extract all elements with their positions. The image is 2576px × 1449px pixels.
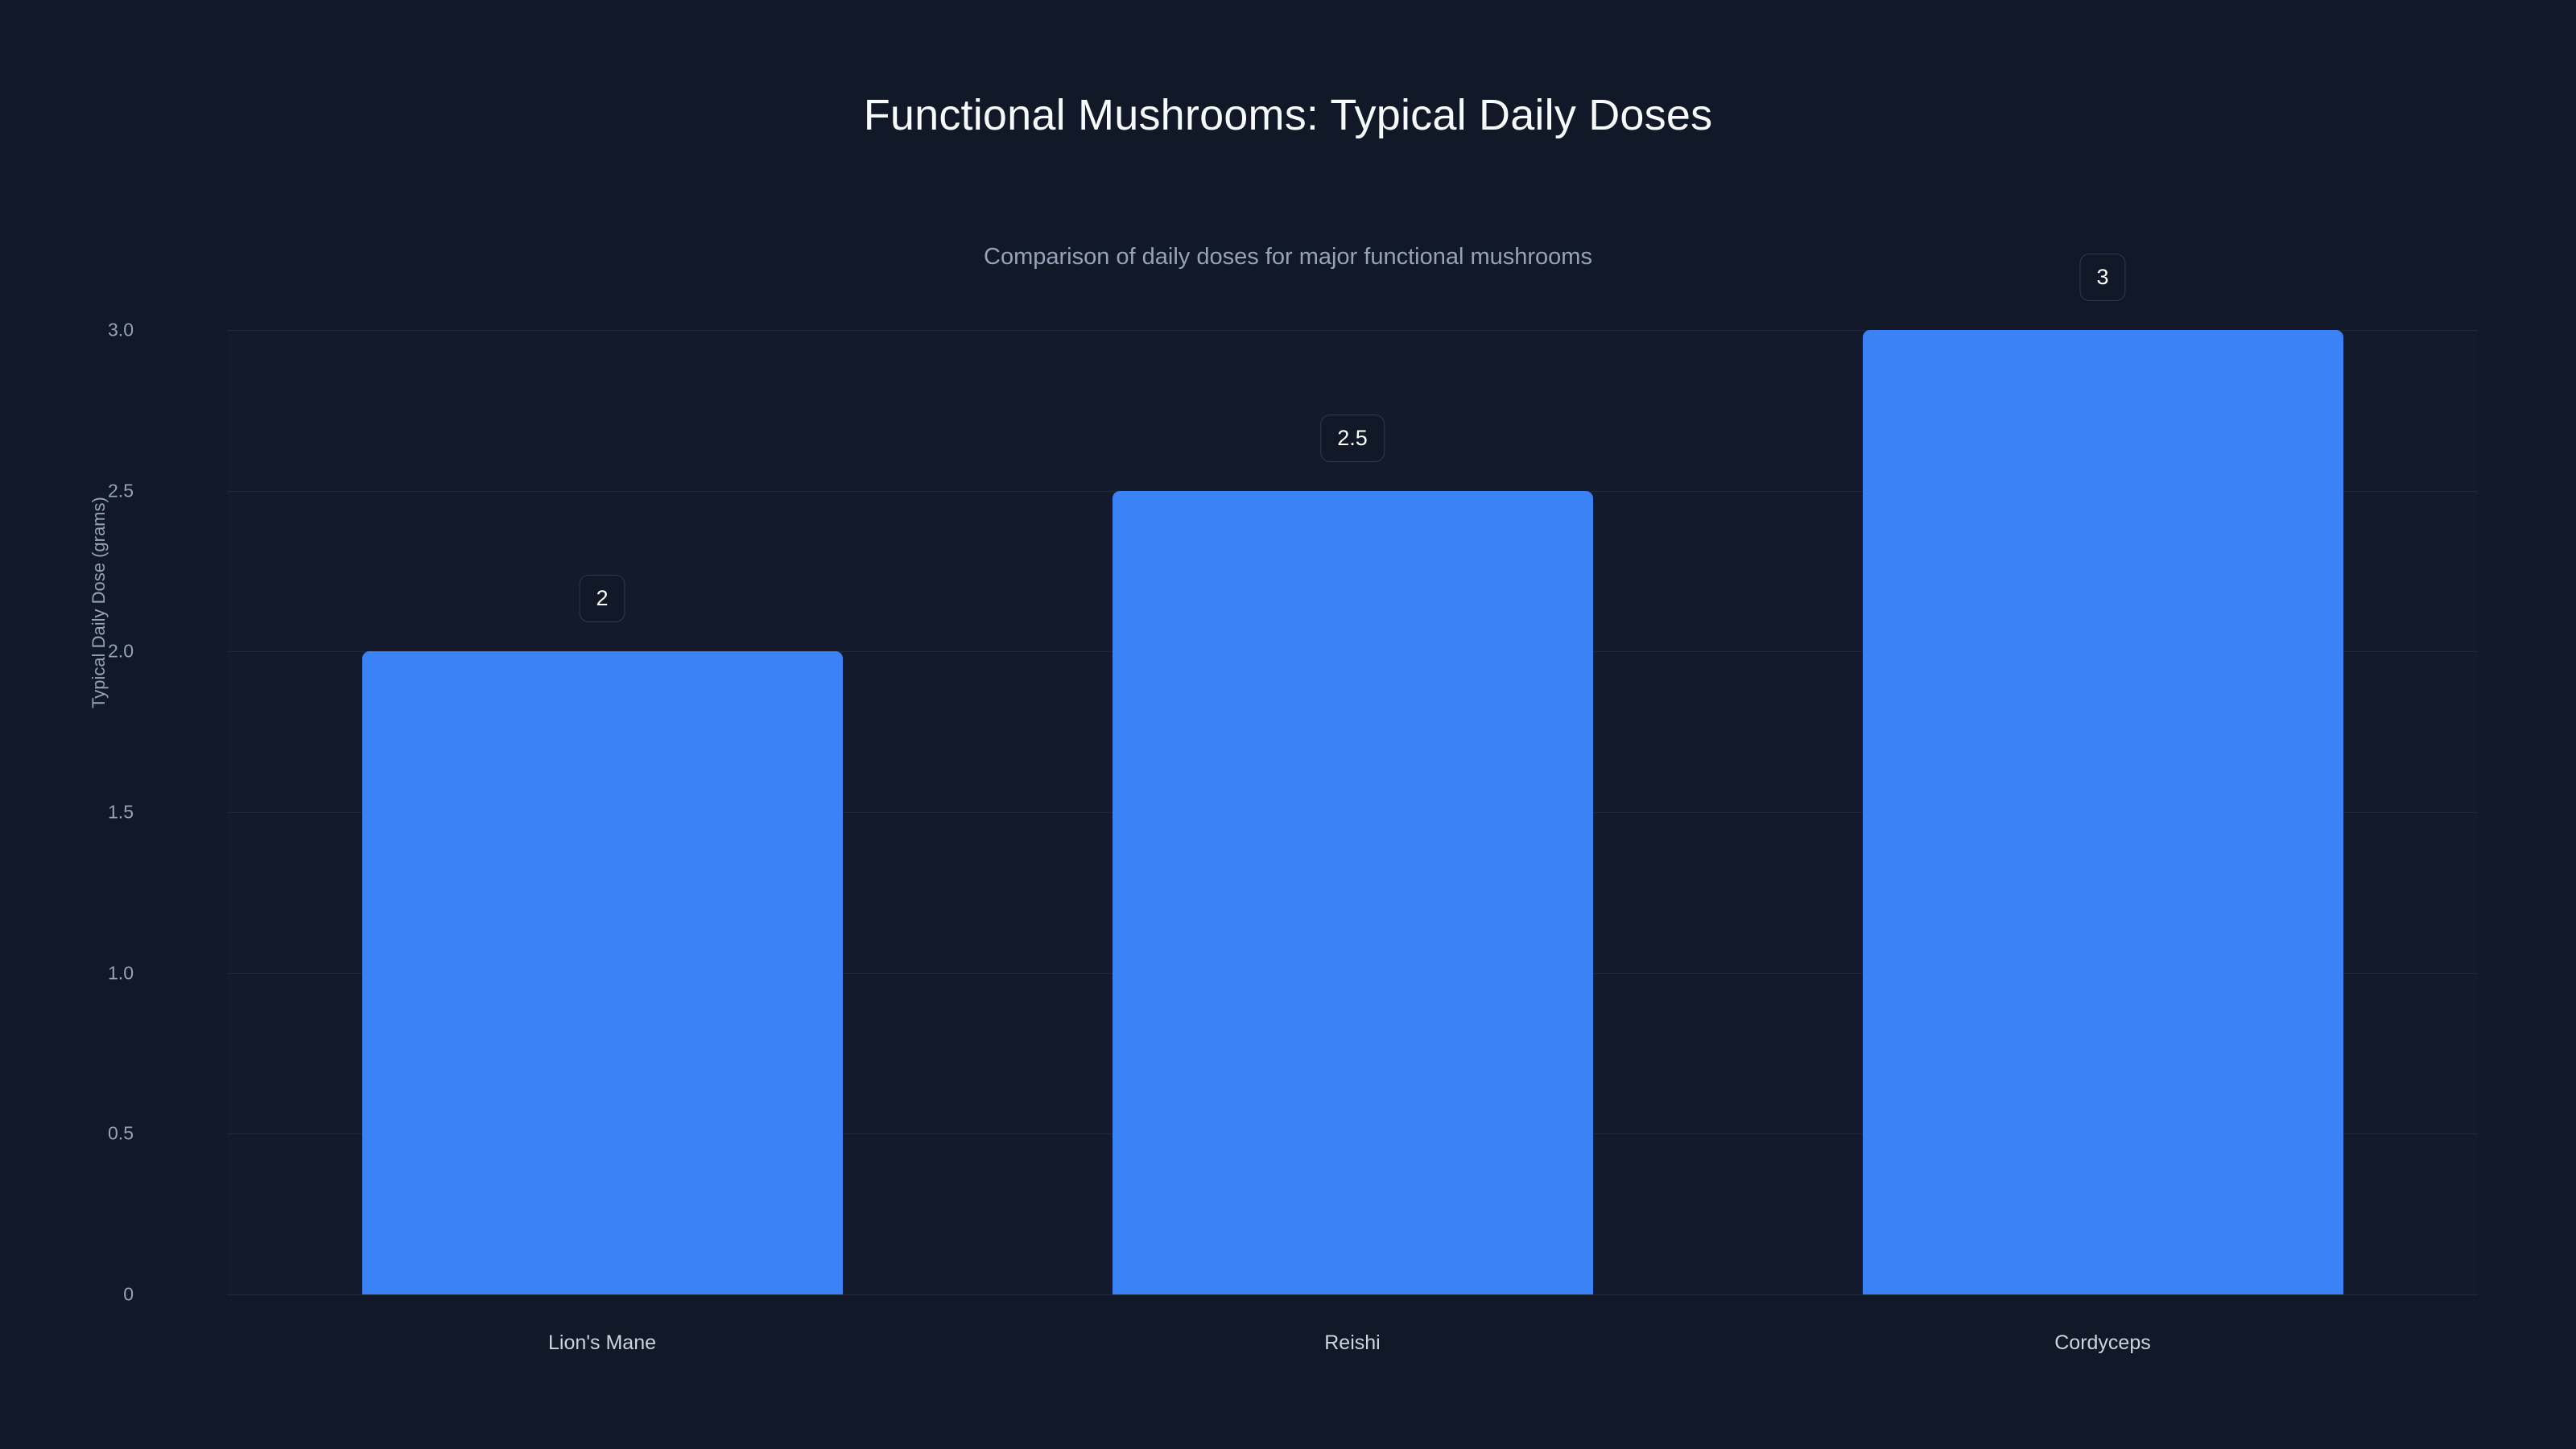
chart-title: Functional Mushrooms: Typical Daily Dose… [0,90,2576,140]
chart-subtitle: Comparison of daily doses for major func… [0,244,2576,270]
x-axis-tick-label: Reishi [1324,1331,1380,1355]
y-axis-tick-label: 3.0 [37,320,134,341]
y-axis-tick-label: 2.0 [37,641,134,663]
y-axis-tick-label: 1.5 [37,802,134,824]
bar-reishi[interactable] [1113,491,1593,1294]
y-axis-tick-label: 1.0 [37,962,134,984]
bar-cordyceps[interactable] [1863,330,2343,1294]
y-axis-tick-label: 0.5 [37,1123,134,1145]
x-axis-tick-label: Cordyceps [2054,1331,2151,1355]
value-badge: 2 [579,575,625,622]
y-axis-tick-label: 2.5 [37,480,134,502]
x-axis-tick-label: Lion's Mane [548,1331,656,1355]
value-badge: 3 [2079,254,2125,301]
value-badge: 2.5 [1320,415,1385,462]
y-axis-tick-label: 0 [37,1284,134,1306]
chart-canvas: Functional Mushrooms: Typical Daily Dose… [0,0,2576,1449]
bar-lion-s-mane[interactable] [362,651,843,1294]
gridline [227,1294,2478,1295]
